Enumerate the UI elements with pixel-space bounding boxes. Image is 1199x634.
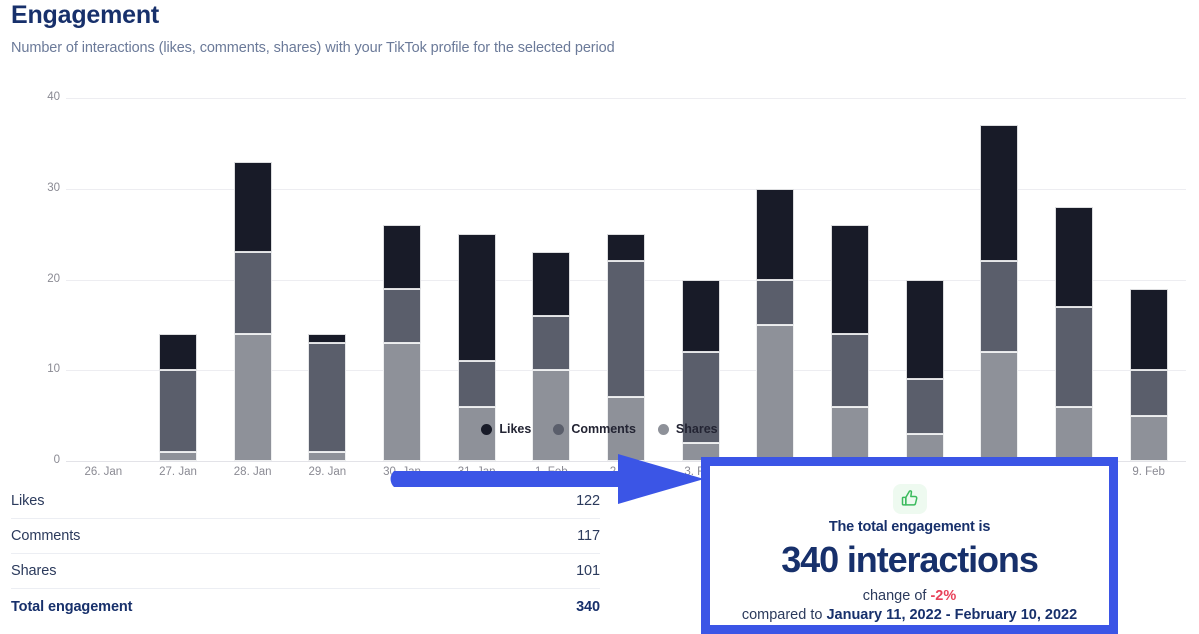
chart-plot-area (66, 98, 1186, 461)
bar-segment-likes[interactable] (458, 234, 496, 361)
bar-group[interactable] (980, 125, 1018, 461)
engagement-stacked-bar-chart: Values 010203040 26. Jan27. Jan28. Jan29… (0, 72, 1199, 442)
chart-legend: LikesCommentsShares (0, 422, 1199, 436)
bar-segment-comments[interactable] (1055, 307, 1093, 407)
bar-segment-shares[interactable] (159, 452, 197, 461)
page-title: Engagement (11, 1, 159, 30)
bar-group[interactable] (234, 162, 272, 461)
legend-item-comments[interactable]: Comments (553, 422, 636, 436)
legend-item-likes[interactable]: Likes (481, 422, 531, 436)
bar-segment-shares[interactable] (383, 343, 421, 461)
bar-segment-likes[interactable] (756, 189, 794, 280)
callout-compare-prefix: compared to (742, 607, 827, 623)
bar-segment-likes[interactable] (682, 280, 720, 353)
bar-segment-comments[interactable] (383, 289, 421, 343)
bar-segment-shares[interactable] (756, 325, 794, 461)
callout-lead-text: The total engagement is (829, 519, 990, 535)
bar-segment-likes[interactable] (159, 334, 197, 370)
y-axis-tick-label: 40 (16, 91, 60, 103)
y-axis-tick-label: 20 (16, 273, 60, 285)
x-axis-tick-label: 29. Jan (308, 466, 346, 478)
bar-segment-comments[interactable] (159, 370, 197, 452)
callout-compare-range: January 11, 2022 - February 10, 2022 (826, 607, 1077, 623)
total-engagement-callout: The total engagement is 340 interactions… (701, 457, 1118, 634)
page-subtitle: Number of interactions (likes, comments,… (11, 40, 615, 56)
dot-icon (481, 424, 492, 435)
bar-segment-comments[interactable] (831, 334, 869, 407)
y-axis-tick-label: 0 (16, 454, 60, 466)
callout-change-line: change of -2% (863, 588, 957, 604)
x-axis-tick-label: 27. Jan (159, 466, 197, 478)
table-row-label: Total engagement (11, 599, 132, 615)
legend-item-label: Comments (571, 422, 636, 436)
table-row-label: Comments (11, 528, 80, 544)
bar-segment-comments[interactable] (532, 316, 570, 370)
table-row: Comments117 (11, 519, 600, 554)
legend-item-label: Likes (499, 422, 531, 436)
bar-segment-likes[interactable] (1130, 289, 1168, 371)
x-axis-tick-label: 9. Feb (1132, 466, 1165, 478)
bar-segment-comments[interactable] (1130, 370, 1168, 415)
callout-headline: 340 interactions (781, 539, 1038, 581)
bar-segment-comments[interactable] (458, 361, 496, 406)
x-axis-tick-label: 28. Jan (234, 466, 272, 478)
table-row: Total engagement340 (11, 589, 600, 624)
bar-segment-likes[interactable] (532, 252, 570, 316)
bar-group[interactable] (159, 334, 197, 461)
bar-segment-likes[interactable] (383, 225, 421, 289)
bar-segment-shares[interactable] (234, 334, 272, 461)
bar-segment-shares[interactable] (980, 352, 1018, 461)
gridline (66, 98, 1186, 99)
bar-segment-comments[interactable] (234, 252, 272, 334)
y-axis-tick-label: 30 (16, 182, 60, 194)
callout-change-value: -2% (930, 588, 956, 604)
table-row: Shares101 (11, 554, 600, 589)
bar-segment-likes[interactable] (308, 334, 346, 343)
table-row-label: Shares (11, 563, 56, 579)
thumbs-up-icon (893, 484, 927, 514)
legend-item-label: Shares (676, 422, 718, 436)
right-arrow-icon (386, 452, 708, 506)
x-axis-tick-label: 26. Jan (84, 466, 122, 478)
dot-icon (553, 424, 564, 435)
bar-segment-likes[interactable] (980, 125, 1018, 261)
bar-segment-likes[interactable] (831, 225, 869, 334)
table-row-value: 340 (576, 599, 600, 615)
y-axis-ticks: 010203040 (8, 98, 60, 461)
table-row-label: Likes (11, 493, 44, 509)
bar-segment-likes[interactable] (906, 280, 944, 380)
table-row-value: 117 (577, 528, 600, 544)
bar-segment-comments[interactable] (980, 261, 1018, 352)
callout-change-prefix: change of (863, 588, 931, 604)
bar-segment-comments[interactable] (756, 280, 794, 325)
bar-group[interactable] (756, 189, 794, 461)
table-row-value: 101 (576, 563, 600, 579)
bar-segment-likes[interactable] (1055, 207, 1093, 307)
engagement-panel: Engagement Number of interactions (likes… (0, 0, 1199, 634)
legend-item-shares[interactable]: Shares (658, 422, 718, 436)
callout-compare-line: compared to January 11, 2022 - February … (742, 607, 1077, 623)
bar-group[interactable] (308, 334, 346, 461)
dot-icon (658, 424, 669, 435)
bar-segment-comments[interactable] (607, 261, 645, 397)
bar-segment-likes[interactable] (607, 234, 645, 261)
bar-segment-shares[interactable] (308, 452, 346, 461)
bar-segment-likes[interactable] (234, 162, 272, 253)
bar-segment-shares[interactable] (532, 370, 570, 461)
y-axis-tick-label: 10 (16, 363, 60, 375)
